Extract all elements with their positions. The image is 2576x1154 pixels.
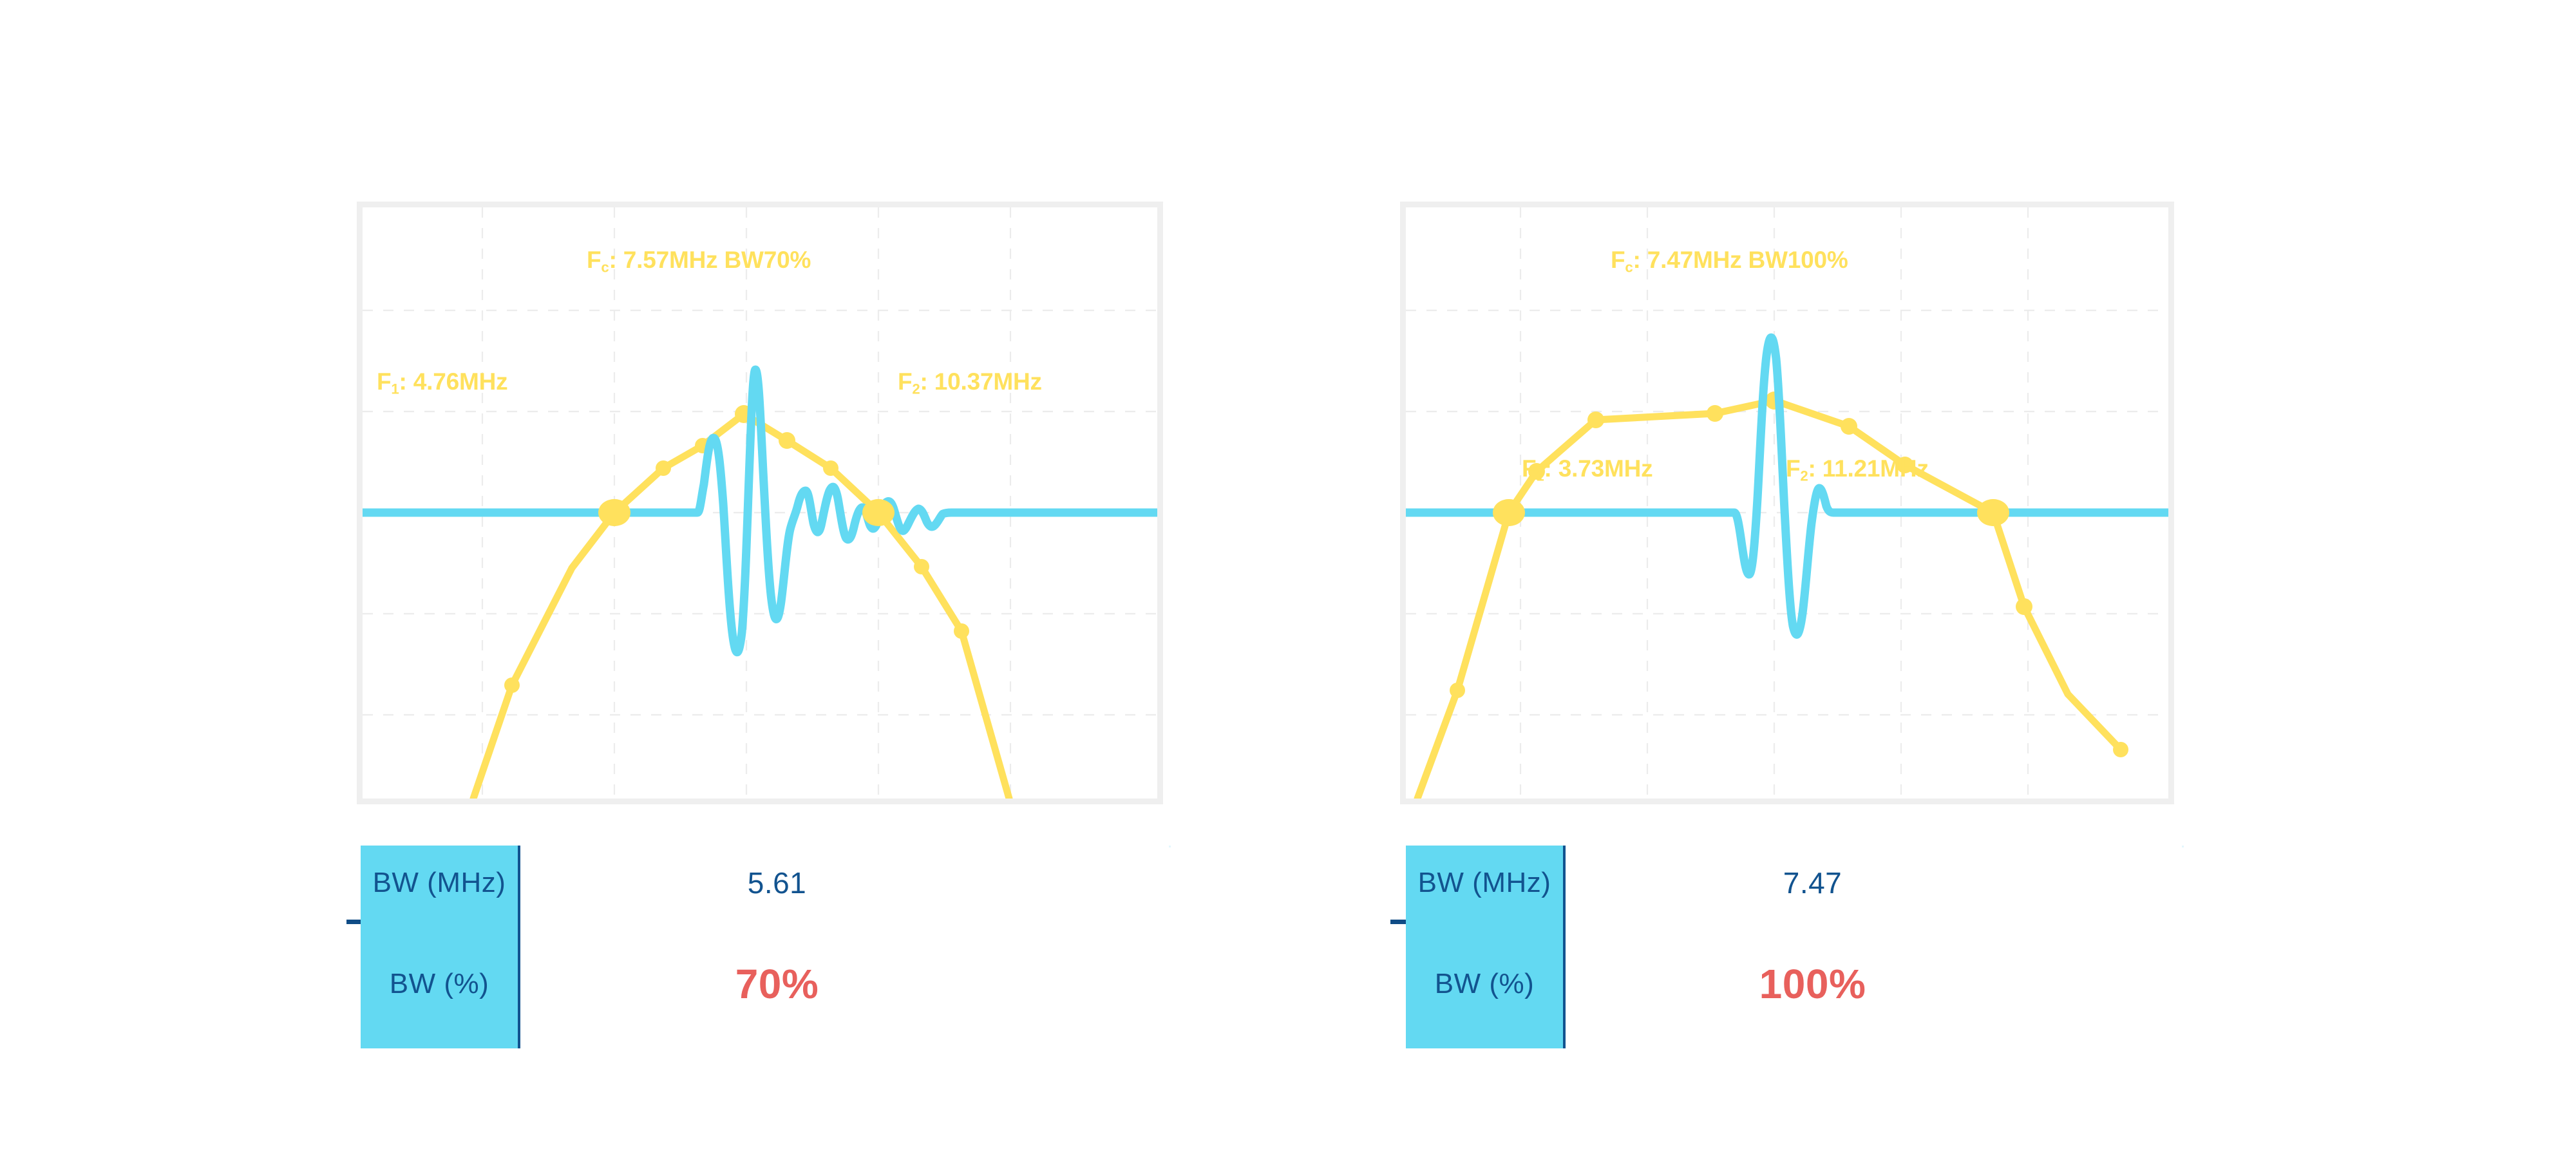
- chart-gridlines: [363, 207, 1157, 799]
- f2-marker: [862, 499, 895, 526]
- row-value-bw-pct: 100%: [1759, 960, 1866, 1008]
- fc-text: : 7.47MHz BW100%: [1633, 247, 1848, 273]
- row-value-bw-mhz-cell: 5.61: [520, 846, 1169, 920]
- fc-subscript: c: [1625, 260, 1633, 276]
- row-value-bw-mhz: 7.47: [1783, 865, 1842, 900]
- table-row-bandwidth-pct: BW (%) 70%: [361, 920, 1169, 1048]
- results-table-bw100: BW (MHz) 7.47 BW (%) 100%: [1406, 846, 2182, 1050]
- f2-marker: [1977, 499, 2009, 526]
- row-value-bw-mhz: 5.61: [748, 865, 807, 900]
- row-header-bw-pct: BW (%): [1406, 920, 1566, 1048]
- label-lower-frequency-bw70: F1: 4.76MHz: [377, 370, 507, 397]
- label-upper-frequency-bw100: F2: 11.21MHz: [1786, 457, 1929, 484]
- f1-text: : 4.76MHz: [399, 368, 508, 395]
- f2-subscript: 2: [912, 381, 920, 397]
- f1-subscript: 1: [1536, 468, 1544, 484]
- label-center-frequency-bw70: Fc: 7.57MHz BW70%: [587, 248, 811, 275]
- f2-text: : 11.21MHz: [1808, 455, 1929, 482]
- chart-frame-bw100: Fc: 7.47MHz BW100% F1: 3.73MHz F2: 11.21…: [1400, 202, 2174, 804]
- panel-bw100: Fc: 7.47MHz BW100% F1: 3.73MHz F2: 11.21…: [1391, 0, 2254, 1154]
- fc-text: : 7.57MHz BW70%: [609, 247, 811, 273]
- comparison-stage: Fc: 7.57MHz BW70% F1: 4.76MHz F2: 10.37M…: [0, 0, 2576, 1154]
- f2-text: : 10.37MHz: [920, 368, 1042, 395]
- label-upper-frequency-bw70: F2: 10.37MHz: [898, 370, 1042, 397]
- label-lower-frequency-bw100: F1: 3.73MHz: [1522, 457, 1653, 484]
- f1-text: : 3.73MHz: [1544, 455, 1653, 482]
- row-header-bw-pct: BW (%): [361, 920, 520, 1048]
- row-header-bw-mhz: BW (MHz): [361, 846, 520, 920]
- fc-subscript: c: [601, 260, 609, 276]
- table-row-bandwidth-mhz: BW (MHz) 7.47: [1406, 846, 2182, 920]
- chart-plot-bw70: [363, 207, 1157, 799]
- row-value-bw-pct-cell: 70%: [520, 920, 1169, 1048]
- f1-marker: [1493, 499, 1525, 526]
- panel-bw70: Fc: 7.57MHz BW70% F1: 4.76MHz F2: 10.37M…: [348, 0, 1211, 1154]
- chart-plot-bw100: [1406, 207, 2168, 799]
- row-header-bw-mhz: BW (MHz): [1406, 846, 1566, 920]
- impulse-waveform-cyan: [363, 370, 1157, 652]
- f1-subscript: 1: [391, 381, 399, 397]
- chart-frame-bw70: Fc: 7.57MHz BW70% F1: 4.76MHz F2: 10.37M…: [357, 202, 1163, 804]
- results-table-bw70: BW (MHz) 5.61 BW (%) 70%: [361, 846, 1169, 1050]
- spectrum-chart-bw100: [1406, 207, 2168, 799]
- label-center-frequency-bw100: Fc: 7.47MHz BW100%: [1611, 248, 1848, 275]
- f2-subscript: 2: [1800, 468, 1808, 484]
- row-value-bw-pct-cell: 100%: [1566, 920, 2182, 1048]
- row-value-bw-mhz-cell: 7.47: [1566, 846, 2182, 920]
- f1-marker: [598, 499, 630, 526]
- row-value-bw-pct: 70%: [735, 960, 819, 1008]
- table-row-bandwidth-pct: BW (%) 100%: [1406, 920, 2182, 1048]
- spectrum-chart-bw70: [363, 207, 1157, 799]
- table-row-bandwidth-mhz: BW (MHz) 5.61: [361, 846, 1169, 920]
